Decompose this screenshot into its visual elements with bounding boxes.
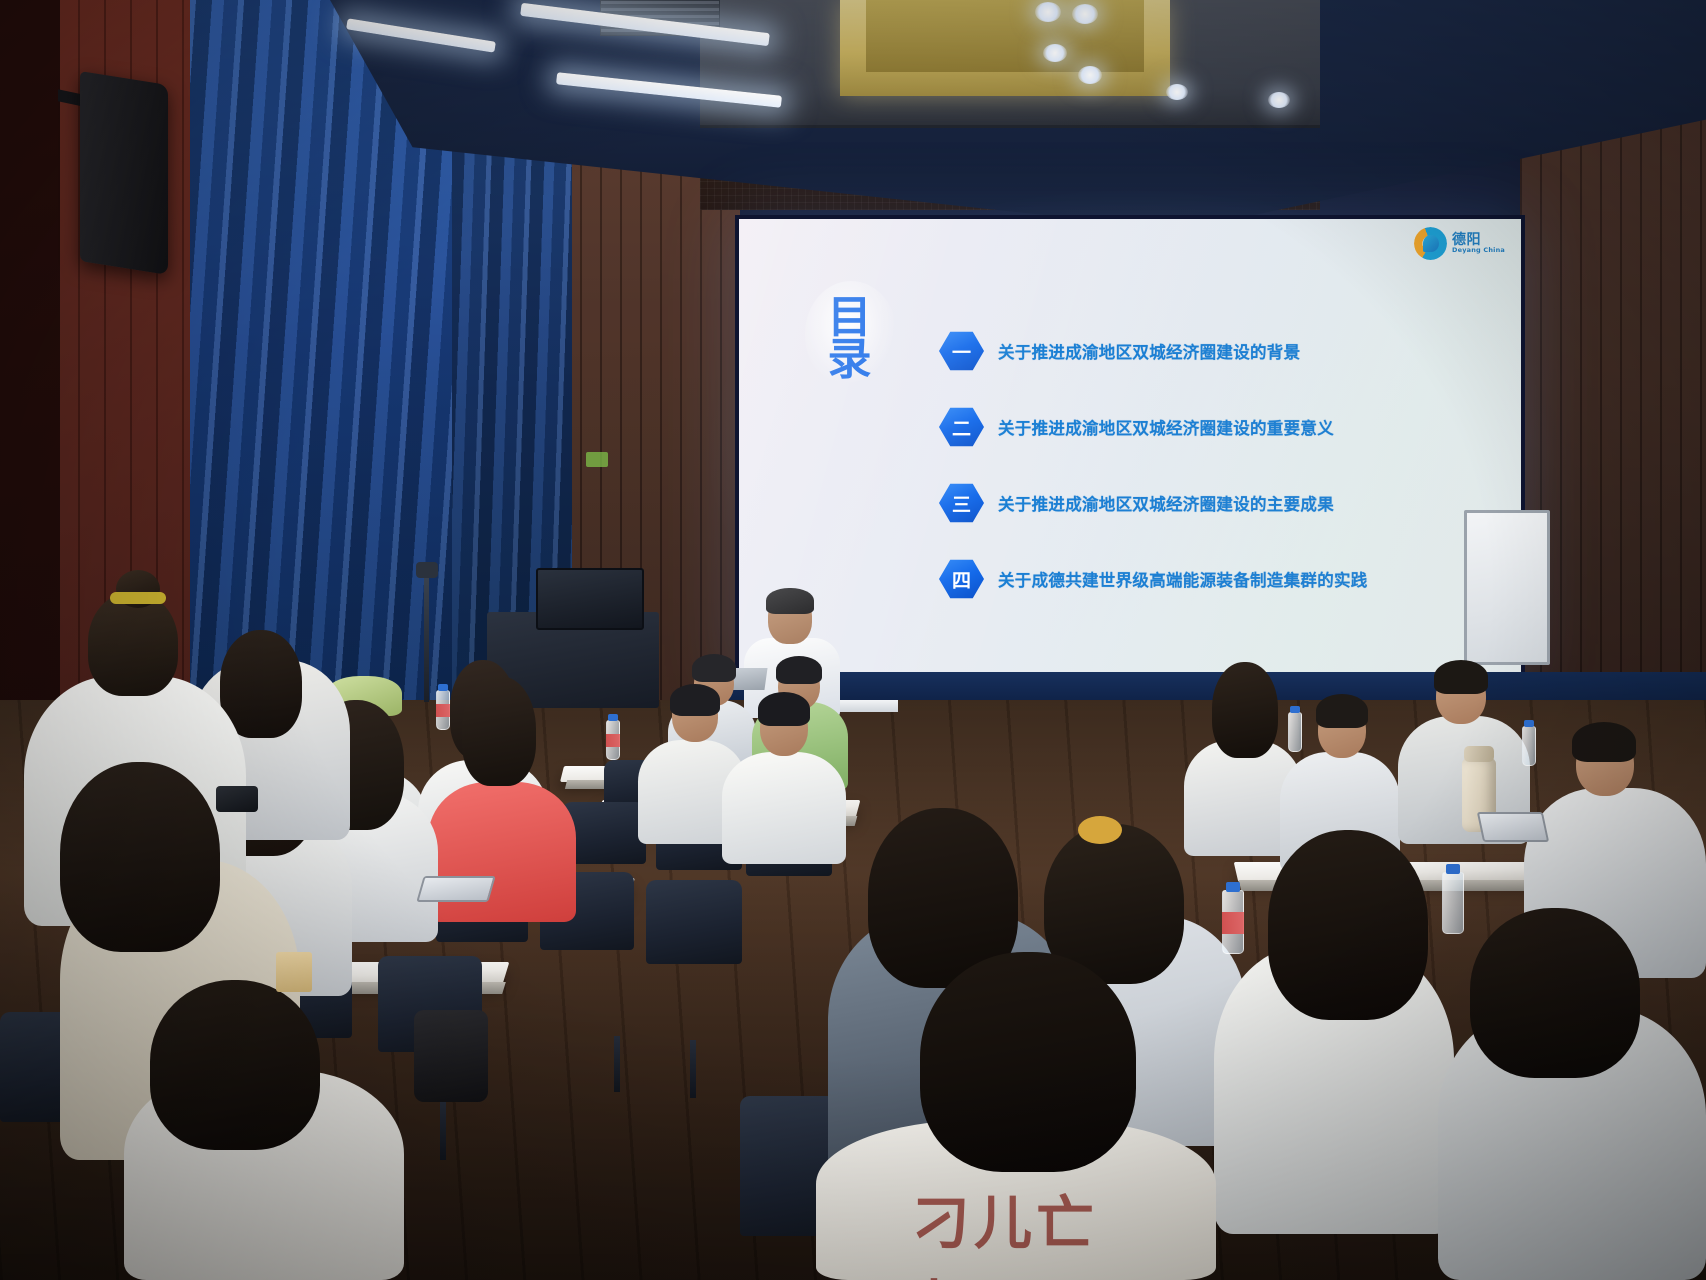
chair-leg-2: [690, 1040, 696, 1098]
water-bottle-1-cap: [438, 684, 448, 691]
deyang-logo-en: Deyang China: [1452, 247, 1505, 254]
av-monitor: [536, 568, 644, 630]
water-bottle-2-cap: [608, 714, 618, 721]
attendee-foreground-left-3-hair: [150, 980, 320, 1150]
water-bottle-6[interactable]: [1442, 872, 1464, 934]
attendee-foreground-center-hair: [920, 952, 1136, 1172]
attendee-red-top-hair: [462, 676, 536, 786]
water-bottle-6-cap: [1446, 864, 1460, 874]
water-bottle-4-cap: [1524, 720, 1534, 727]
deyang-logo-icon: [1414, 227, 1447, 260]
presenter-hair: [766, 588, 814, 614]
chair-leg-1: [614, 1036, 620, 1092]
water-bottle-3-cap: [1290, 706, 1300, 713]
toc-item-2-number: 二: [939, 407, 984, 447]
backpack[interactable]: [414, 1010, 488, 1102]
attendee-back-4-hair: [758, 692, 810, 726]
chair-8[interactable]: [646, 880, 742, 964]
deyang-logo: 德阳 Deyang China: [1414, 227, 1505, 260]
water-bottle-5-cap: [1226, 882, 1240, 892]
toc-item-3[interactable]: 三 关于推进成渝地区双城经济圈建设的主要成果: [939, 479, 1499, 527]
water-bottle-5-label: [1222, 912, 1244, 934]
attendee-back-2-hair: [776, 656, 822, 684]
projection-screen[interactable]: 德阳 Deyang China 目录 一 关于推进成渝地区双城经济圈建设的背景 …: [739, 219, 1521, 685]
toc-item-3-number: 三: [939, 483, 984, 523]
toc-item-4-number: 四: [939, 559, 984, 599]
microphone-stand: [424, 572, 429, 702]
lecture-hall-photo: 德阳 Deyang China 目录 一 关于推进成渝地区双城经济圈建设的背景 …: [0, 0, 1706, 1280]
ceiling-spotlight-5: [1166, 84, 1188, 100]
water-bottle-1-label: [436, 704, 450, 717]
ceiling-gold-inner-panel: [866, 0, 1144, 72]
wall-exit-sign: [586, 452, 608, 467]
toc-item-1-number: 一: [939, 331, 984, 371]
water-bottle-4[interactable]: [1522, 726, 1536, 766]
attendee-right-foreground-hair: [1268, 830, 1428, 1020]
smartphone[interactable]: [216, 786, 258, 812]
ceiling-spotlight-2: [1072, 4, 1098, 24]
toc-item-4-label: 关于成德共建世界级高端能源装备制造集群的实践: [998, 567, 1368, 591]
tissue-box[interactable]: [276, 952, 312, 992]
ceiling-spotlight-4: [1078, 66, 1102, 84]
ceiling-spotlight-3: [1043, 44, 1067, 62]
toc-item-2[interactable]: 二 关于推进成渝地区双城经济圈建设的重要意义: [939, 403, 1499, 451]
attendee-center-2-scrunchie: [1078, 816, 1122, 844]
toc-item-2-label: 关于推进成渝地区双城经济圈建设的重要意义: [998, 415, 1334, 439]
attendee-right-foreground-2-hair: [1470, 908, 1640, 1078]
attendee-foreground-center-shirt-print: 刁儿亡七: [912, 1176, 1128, 1272]
water-bottle-3[interactable]: [1288, 712, 1302, 752]
whiteboard: [1464, 510, 1550, 665]
attendee-foreground-left-2-hair: [60, 762, 220, 952]
attendee-back-3-hair: [670, 684, 720, 716]
wall-speaker: [80, 71, 168, 275]
slide-title: 目录: [817, 297, 883, 381]
attendee-right-4-hair: [1572, 722, 1636, 762]
attendee-foreground-hoodie-hairband: [110, 592, 166, 604]
toc-item-1[interactable]: 一 关于推进成渝地区双城经济圈建设的背景: [939, 327, 1499, 375]
attendee-right-2-hair: [1316, 694, 1368, 728]
toc-item-4[interactable]: 四 关于成德共建世界级高端能源装备制造集群的实践: [939, 555, 1499, 603]
toc-item-1-label: 关于推进成渝地区双城经济圈建设的背景: [998, 339, 1300, 363]
attendee-right-1-hair: [1212, 662, 1278, 758]
deyang-logo-text: 德阳 Deyang China: [1452, 233, 1505, 254]
tablet-device-1[interactable]: [416, 876, 495, 902]
tablet-device-2[interactable]: [1477, 812, 1549, 842]
deyang-logo-cn: 德阳: [1452, 233, 1505, 247]
ceiling-spotlight-1: [1035, 2, 1061, 22]
toc-list: 一 关于推进成渝地区双城经济圈建设的背景 二 关于推进成渝地区双城经济圈建设的重…: [939, 327, 1499, 631]
attendee-back-1-hair: [692, 654, 736, 682]
chair-leg-3: [440, 1100, 446, 1160]
thermos-flask-cap: [1464, 746, 1494, 762]
ceiling-spotlight-6: [1268, 92, 1290, 108]
water-bottle-2-label: [606, 734, 620, 747]
attendee-right-3-hair: [1434, 660, 1488, 694]
microphone-head: [416, 562, 438, 578]
toc-item-3-label: 关于推进成渝地区双城经济圈建设的主要成果: [998, 491, 1334, 515]
attendee-back-4-body: [722, 752, 846, 864]
